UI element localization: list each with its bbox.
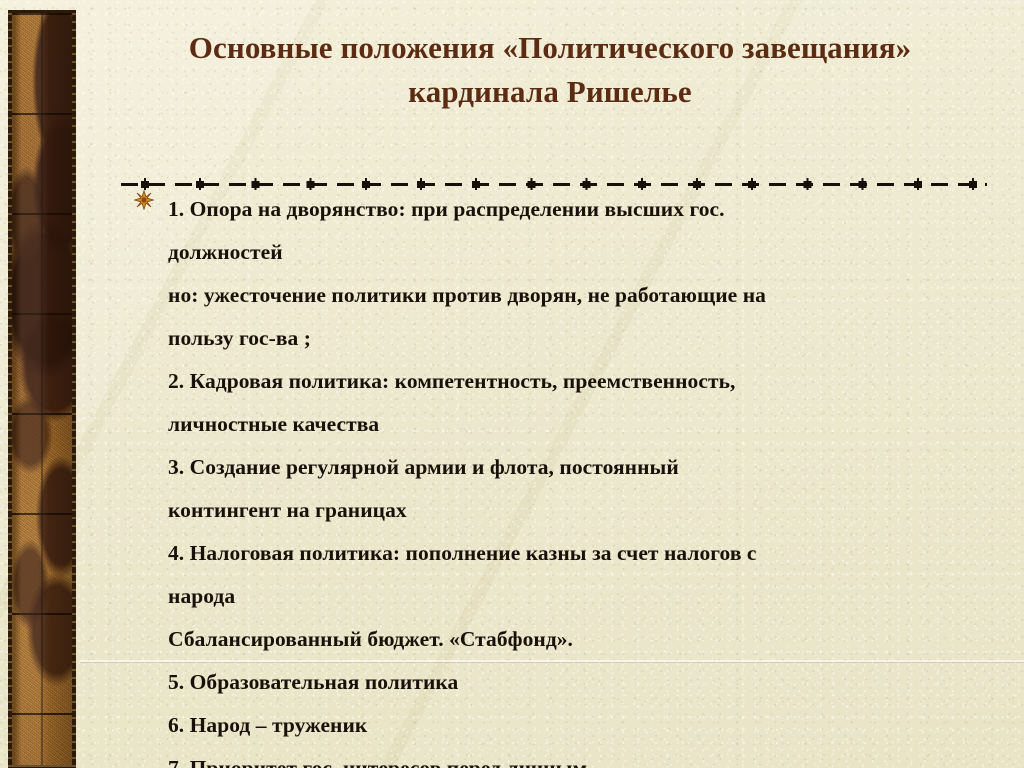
body-line: должностей [168, 231, 992, 274]
body-line: народа [168, 575, 992, 618]
body-line: контингент на границах [168, 489, 992, 532]
body-line: 4. Налоговая политика: пополнение казны … [168, 532, 992, 575]
slide-canvas: Основные положения «Политического завеща… [0, 0, 1024, 768]
body-line: но: ужесточение политики против дворян, … [168, 274, 992, 317]
body-line: 6. Народ – труженик [168, 704, 992, 747]
body-line: Сбалансированный бюджет. «Стабфонд». [168, 618, 992, 661]
body-line: 3. Создание регулярной армии и флота, по… [168, 446, 992, 489]
textbox-overflow-rule [80, 660, 1024, 662]
starburst-icon [134, 190, 154, 210]
body-line: 5. Образовательная политика [168, 661, 992, 704]
body-text-block: 1. Опора на дворянство: при распределени… [168, 188, 992, 768]
body-line: 2. Кадровая политика: компетентность, пр… [168, 360, 992, 403]
page-title: Основные положения «Политического завеща… [150, 26, 950, 114]
decorative-left-border [8, 10, 76, 768]
body-line: 1. Опора на дворянство: при распределени… [168, 188, 992, 231]
body-line: пользу гос-ва ; [168, 317, 992, 360]
border-wood-texture [12, 13, 72, 765]
body-line: личностные качества [168, 403, 992, 446]
border-sheen [12, 13, 72, 765]
border-frame [8, 10, 76, 768]
body-line: 7. Приоритет гос. интересов перед личным… [168, 747, 992, 768]
